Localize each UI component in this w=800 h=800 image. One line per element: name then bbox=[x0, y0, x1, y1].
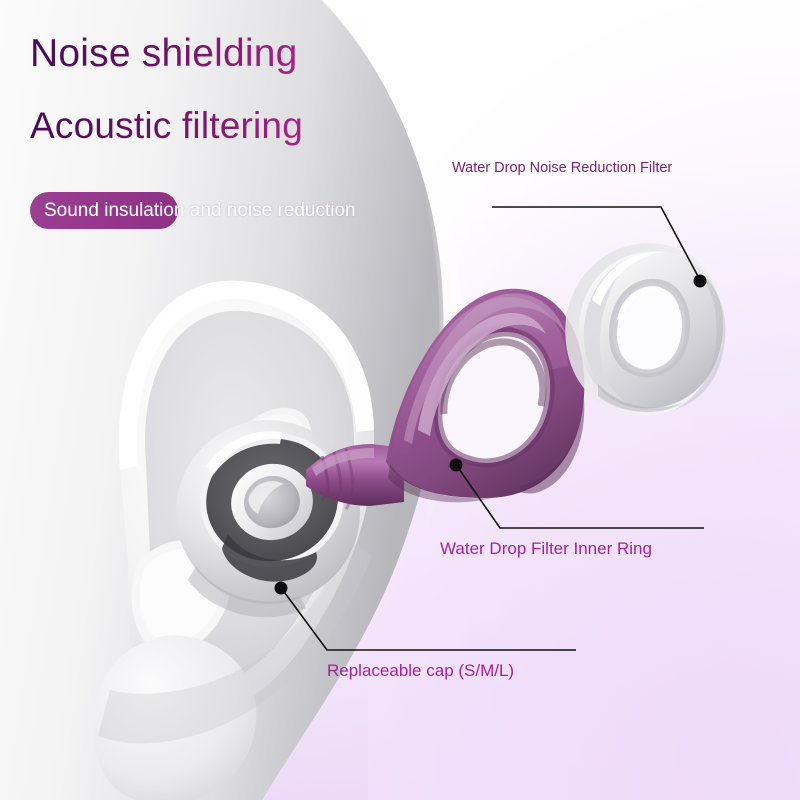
callout-label-water-drop-noise-reduction-filter: Water Drop Noise Reduction Filter bbox=[452, 160, 672, 176]
leader-line-bottom bbox=[282, 589, 576, 650]
feature-badge-label: Sound insulation and noise reduction bbox=[44, 192, 356, 229]
headline-primary: Noise shielding bbox=[30, 32, 298, 76]
leader-line-mid bbox=[457, 466, 704, 528]
leader-dot-bottom bbox=[275, 582, 288, 595]
leader-dot-top bbox=[694, 275, 707, 288]
leader-line-top bbox=[492, 207, 700, 280]
product-infographic: Noise shielding Acoustic filtering Sound… bbox=[0, 0, 800, 800]
callout-label-water-drop-filter-inner-ring: Water Drop Filter Inner Ring bbox=[440, 539, 652, 559]
headline-secondary: Acoustic filtering bbox=[30, 105, 303, 147]
callout-label-replaceable-cap: Replaceable cap (S/M/L) bbox=[327, 661, 514, 681]
leader-dot-mid bbox=[450, 459, 463, 472]
